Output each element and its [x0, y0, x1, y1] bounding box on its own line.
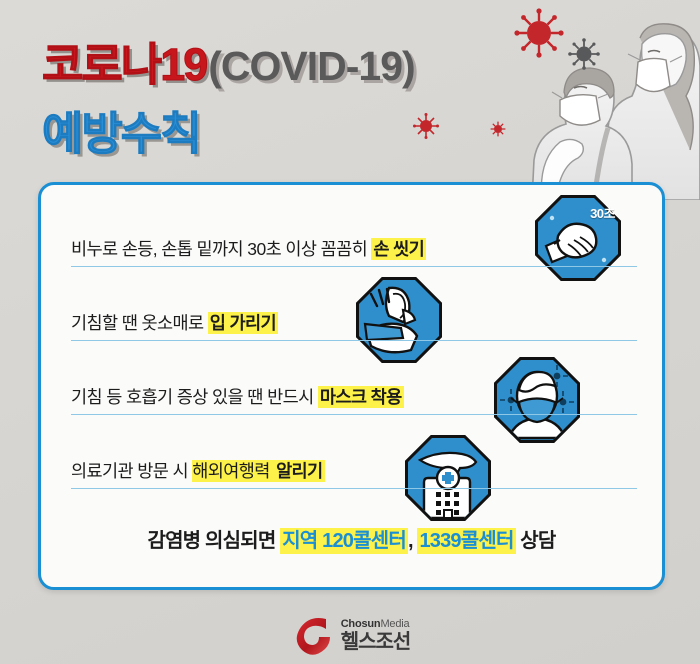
- tip-row-cover-cough: 기침할 땐 옷소매로 입 가리기: [71, 281, 637, 355]
- tip-divider: [71, 266, 637, 267]
- hand-washing-duration-badge: 30초: [590, 203, 615, 222]
- prevention-tip-list: 비누로 손등, 손톱 밑까지 30초 이상 꼼꼼히 손 씻기 기침할 땐 옷소매…: [71, 207, 637, 503]
- tip-row-hand-washing: 비누로 손등, 손톱 밑까지 30초 이상 꼼꼼히 손 씻기: [71, 207, 637, 281]
- virus-particle-red-small: [412, 112, 440, 140]
- tip-text-emphasis: 마스크 착용: [318, 386, 404, 408]
- footer-brand-korean: 헬스조선: [341, 632, 411, 652]
- chosun-c-swoosh-logo-icon: [290, 613, 332, 657]
- virus-particle-dark: [567, 37, 601, 71]
- headline-korean-line2: 예방수칙: [42, 97, 415, 162]
- infographic-poster: 코로나19 (COVID-19) 예방수칙 30초: [0, 0, 700, 664]
- tip-text-prefix: 기침할 땐 옷소매로: [71, 313, 208, 333]
- headline-block: 코로나19 (COVID-19) 예방수칙: [42, 28, 415, 162]
- tip-divider: [71, 340, 637, 341]
- headline-english: (COVID-19): [208, 43, 414, 90]
- cta-local-call-center: 지역 120콜센터: [280, 528, 408, 554]
- prevention-rules-card: 30초: [38, 182, 665, 590]
- tip-text-emphasis: 손 씻기: [371, 238, 426, 260]
- footer-brand-suffix: Media: [380, 618, 409, 630]
- tip-text-prefix: 기침 등 호흡기 증상 있을 땐 반드시: [71, 387, 318, 407]
- footer-logo: ChosunMedia 헬스조선: [0, 606, 700, 664]
- tip-text-emphasis: 알리기: [274, 460, 325, 482]
- tip-divider: [71, 414, 637, 415]
- virus-particle-red-large: [512, 6, 566, 60]
- tip-text-prefix: 비누로 손등, 손톱 밑까지 30초 이상 꼼꼼히: [71, 239, 371, 259]
- cta-tail: 상담: [516, 530, 556, 552]
- headline-korean-line1: 코로나19: [42, 28, 206, 93]
- cta-national-call-center: 1339콜센터: [417, 528, 515, 554]
- call-center-cta: 감염병 의심되면 지역 120콜센터, 1339콜센터 상담: [41, 524, 662, 553]
- tip-text-prefix: 의료기관 방문 시: [71, 461, 192, 481]
- footer-brand-latin: ChosunMedia: [341, 619, 411, 630]
- virus-particle-red-tiny: [489, 120, 507, 138]
- tip-row-wear-mask: 기침 등 호흡기 증상 있을 땐 반드시 마스크 착용: [71, 355, 637, 429]
- footer-brand-prefix: Chosun: [341, 618, 381, 630]
- tip-text-emphasis: 입 가리기: [208, 312, 278, 334]
- tip-divider: [71, 488, 637, 489]
- cta-lead: 감염병 의심되면: [147, 530, 280, 552]
- tip-row-report-travel: 의료기관 방문 시 해외여행력 알리기: [71, 429, 637, 503]
- tip-text-highlight-plain: 해외여행력: [192, 460, 274, 482]
